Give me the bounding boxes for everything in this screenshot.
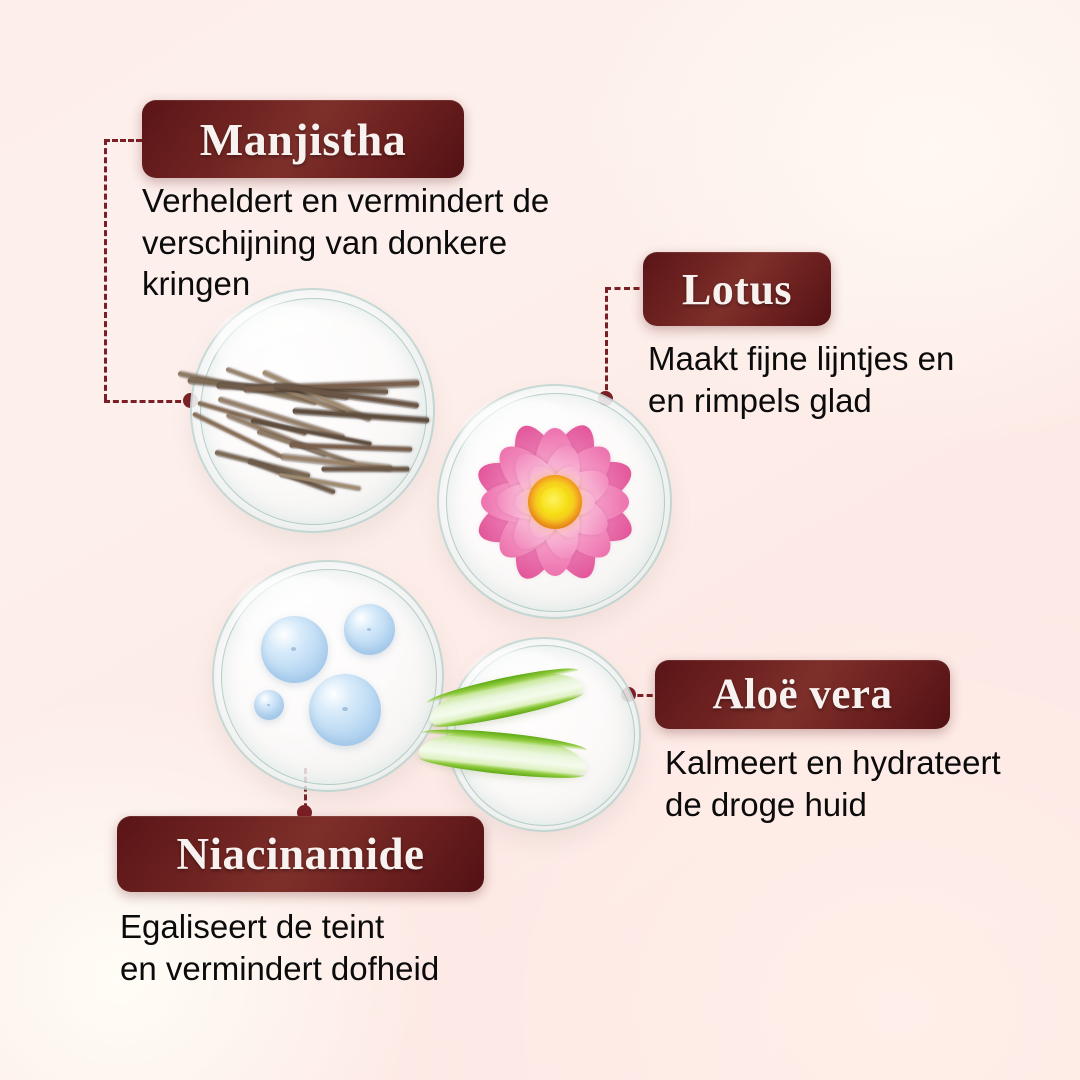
gel-drop (344, 604, 395, 655)
ingredient-name: Manjistha (200, 113, 406, 166)
ingredient-description-niacinamide: Egaliseert de teint en vermindert dofhei… (120, 906, 600, 989)
manjistha-roots (190, 288, 435, 533)
gel-drop (261, 616, 328, 683)
aloe-vera-slices (446, 637, 641, 832)
ingredient-description-lotus: Maakt fijne lijntjes en en rimpels glad (648, 338, 1078, 421)
gel-drop (309, 674, 381, 746)
ingredient-name: Aloë vera (712, 670, 892, 719)
lotus-flower (437, 384, 672, 619)
aloe-slice (424, 662, 585, 733)
ingredient-badge-niacinamide[interactable]: Niacinamide (117, 816, 484, 892)
ingredient-name: Lotus (682, 264, 792, 315)
ingredient-badge-aloe-vera[interactable]: Aloë vera (655, 660, 950, 729)
ingredient-badge-manjistha[interactable]: Manjistha (142, 100, 464, 178)
gel-drop (254, 690, 284, 720)
ingredient-description-manjistha: Verheldert en vermindert de verschijning… (142, 180, 702, 305)
connector-segment (104, 400, 190, 403)
root-stick (292, 407, 429, 425)
gel-droplets (212, 560, 444, 792)
connector-segment (104, 139, 107, 400)
ingredient-description-aloe-vera: Kalmeert en hydrateert de droge huid (665, 742, 1080, 825)
petri-dish-manjistha (190, 288, 435, 533)
petri-dish-niacinamide (212, 560, 444, 792)
ingredient-badge-lotus[interactable]: Lotus (643, 252, 831, 326)
infographic-canvas: Manjistha Verheldert en vermindert de ve… (0, 0, 1080, 1080)
lotus-seedpod (540, 487, 570, 517)
petri-dish-lotus (437, 384, 672, 619)
ingredient-name: Niacinamide (177, 828, 425, 880)
root-stick (321, 466, 409, 473)
petri-dish-aloe-vera (446, 637, 641, 832)
